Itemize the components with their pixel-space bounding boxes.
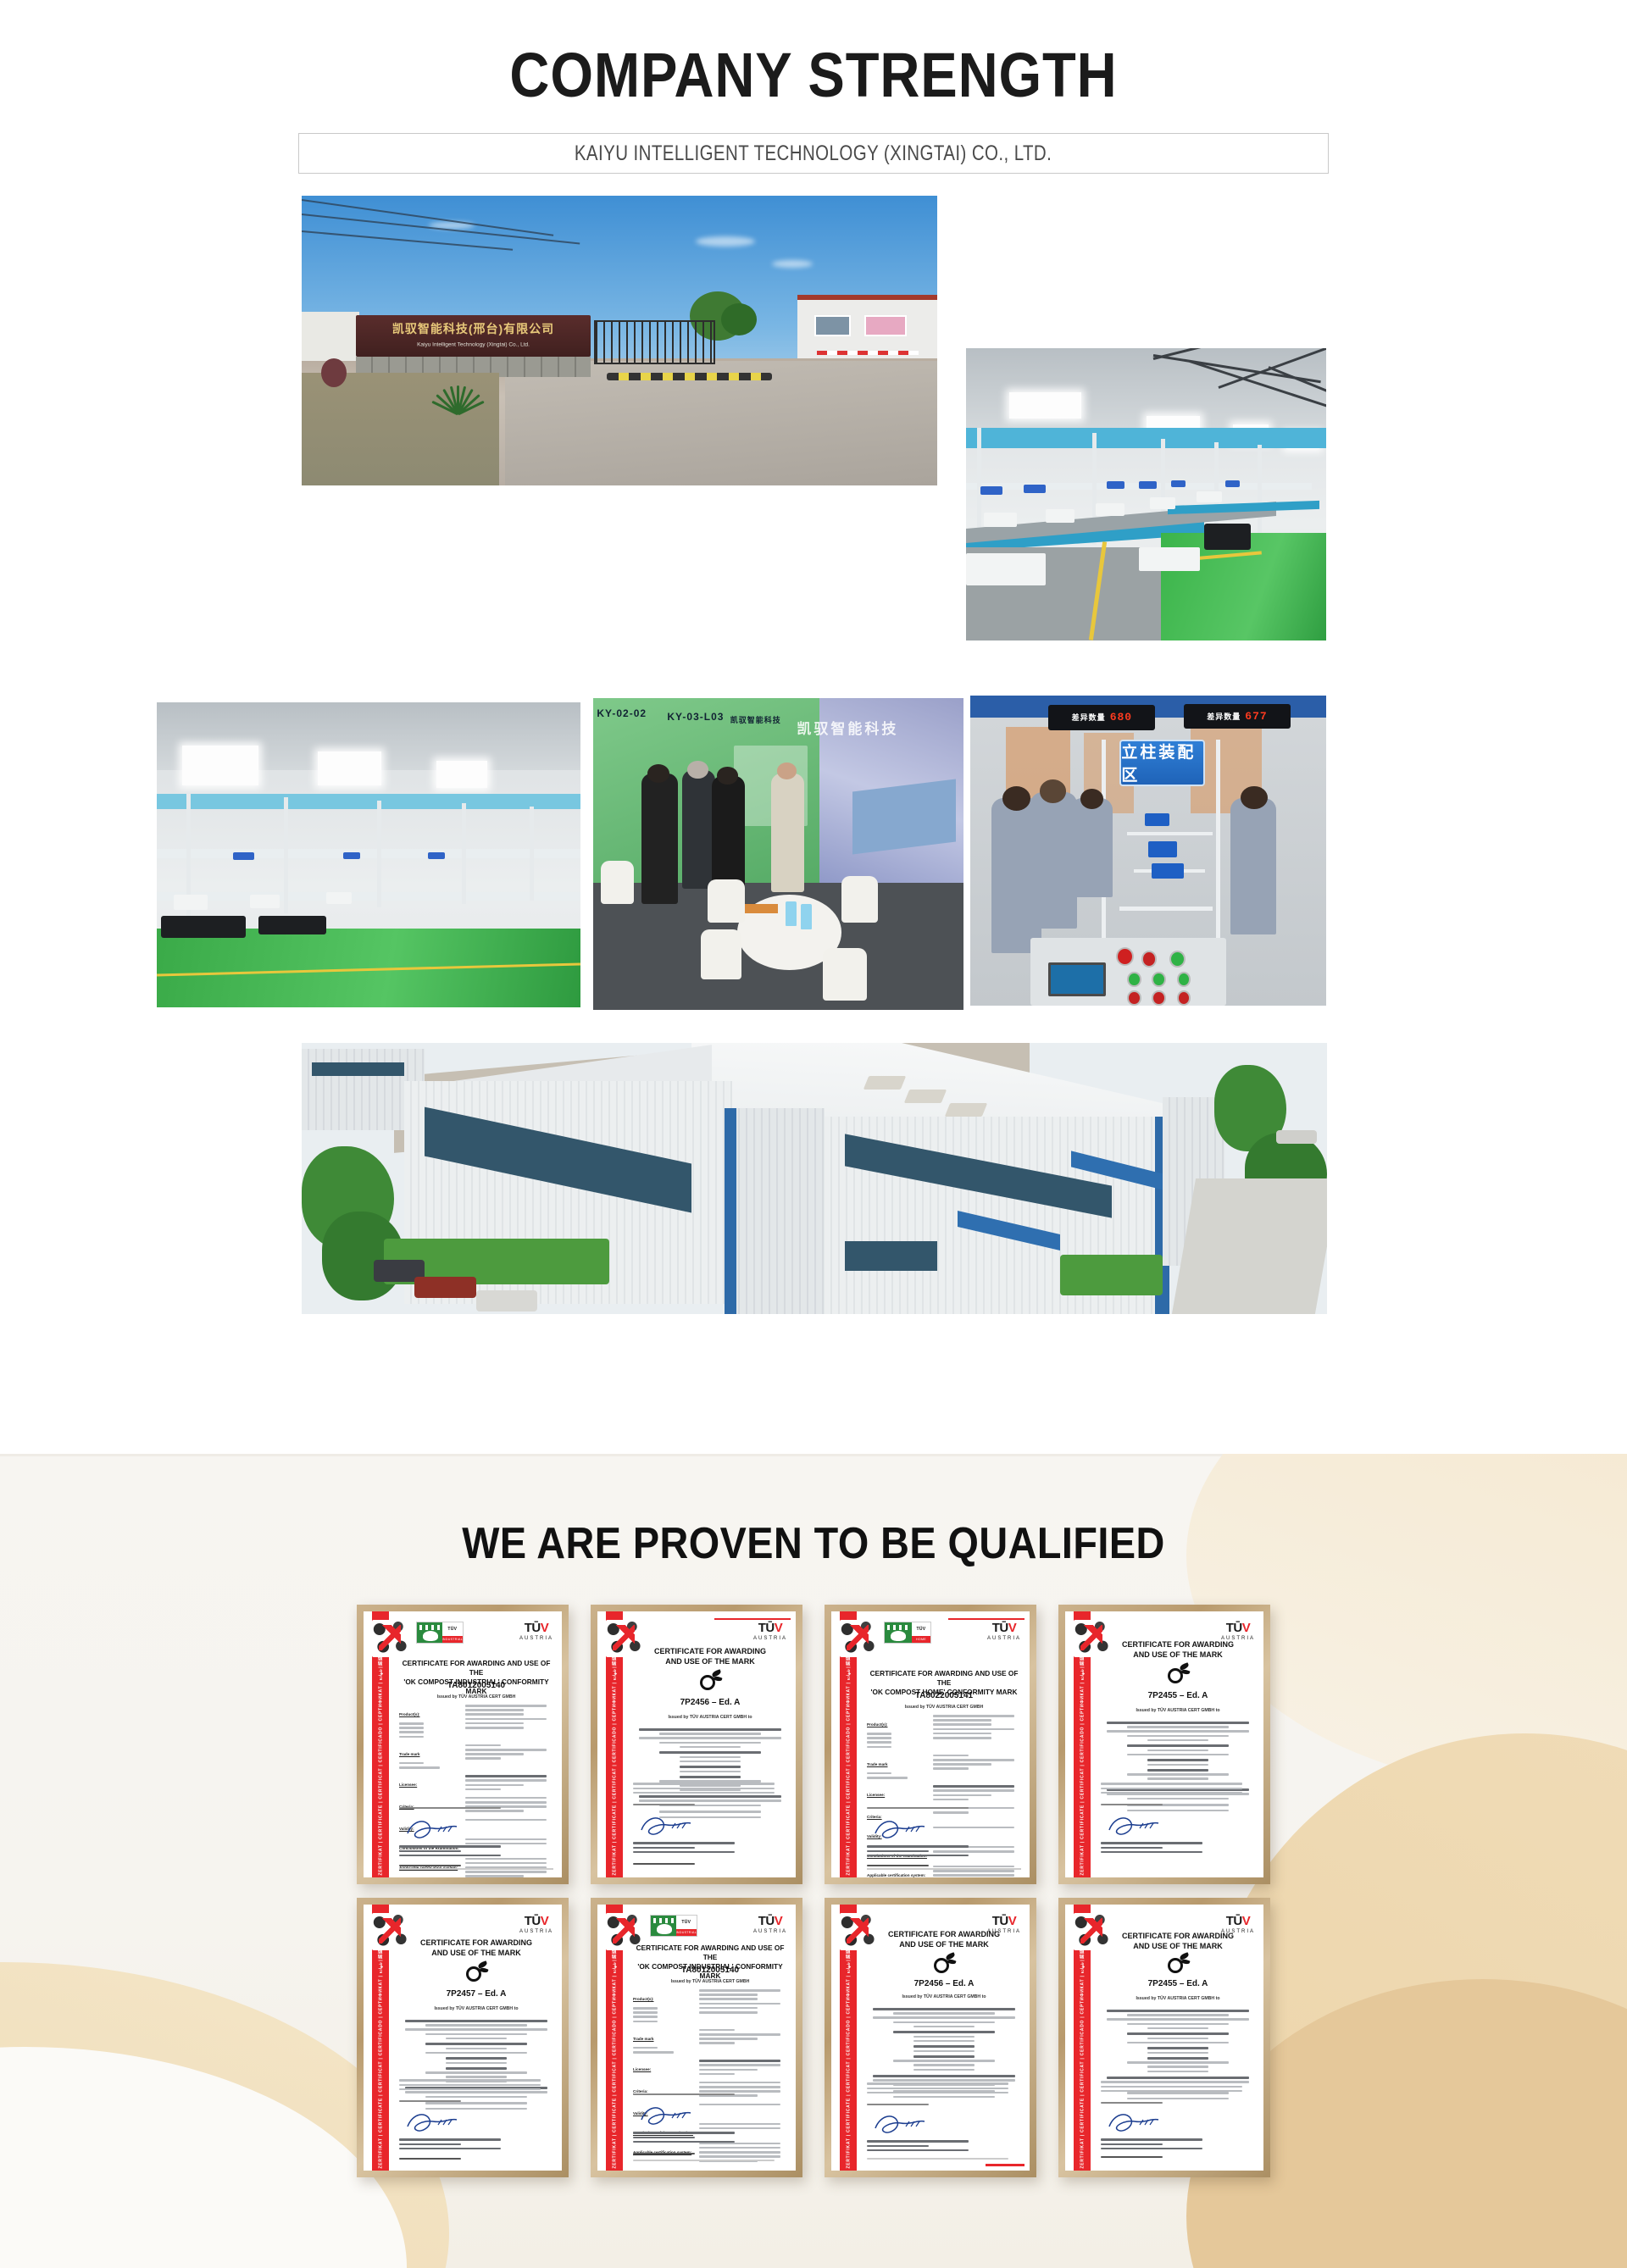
ok-compost-seedling-icon xyxy=(695,1669,724,1691)
certificate-heading: CERTIFICATE FOR AWARDING AND USE OF THE … xyxy=(633,1647,787,1667)
assembly-area-sign-text: 立柱装配区 xyxy=(1121,740,1203,785)
ok-compost-seedling-icon xyxy=(1163,1952,1191,1974)
ok-compost-seedling-icon xyxy=(461,1960,490,1982)
signature xyxy=(872,1815,935,1844)
ok-compost-seedling-icon xyxy=(1163,1662,1191,1684)
photo-factory-gate[interactable]: 凯驭智能科技(邢台)有限公司 Kaiyu Intelligent Technol… xyxy=(302,196,937,485)
booth-panel-label-1: KY-02-02 xyxy=(597,707,647,719)
signature xyxy=(638,2101,701,2130)
keurmerk-v-icon xyxy=(840,1620,877,1657)
certificate-issued-by: Issued by TÜV AUSTRIA CERT GMBH xyxy=(399,1694,553,1700)
certificate-issued-by: Issued by TÜV AUSTRIA CERT GMBH to xyxy=(867,1994,1021,1999)
booth-panel-label-3: 凯驭智能科技 xyxy=(730,714,781,725)
led-display-2: 差异数量 677 xyxy=(1184,704,1291,729)
certificate-languages: ZERTIFIKAT | CERTIFICATE | CERTIFICAT | … xyxy=(1080,1933,1086,2168)
photo-factory-building[interactable] xyxy=(302,1043,1327,1314)
certificate-number: 7P2457 – Ed. A xyxy=(399,1989,553,1999)
certificate-number: 7P2455 – Ed. A xyxy=(1101,1691,1255,1700)
red-button-2[interactable] xyxy=(1127,990,1141,1006)
certificate-card[interactable]: ZERTIFIKAT | CERTIFICATE | CERTIFICAT | … xyxy=(591,1898,802,2177)
gate-sign-english: Kaiyu Intelligent Technology (Xingtai) C… xyxy=(417,342,530,348)
ok-compost-home-badge: TÜVHOME xyxy=(884,1622,931,1644)
photo-workshop-left[interactable] xyxy=(157,702,580,1007)
photo-gallery: 凯驭智能科技(邢台)有限公司 Kaiyu Intelligent Technol… xyxy=(0,196,1627,1314)
certificate-heading: CERTIFICATE FOR AWARDING AND USE OF THE … xyxy=(1101,1640,1255,1661)
certificate-languages: ZERTIFIKAT | CERTIFICATE | CERTIFICAT | … xyxy=(612,1640,618,1875)
certificate-issued-by: Issued by TÜV AUSTRIA CERT GMBH to xyxy=(633,1715,787,1720)
company-name: KAIYU INTELLIGENT TECHNOLOGY (XINGTAI) C… xyxy=(575,141,1052,166)
led-display-1: 差异数量 680 xyxy=(1048,705,1155,729)
certificate-card[interactable]: ZERTIFIKAT | CERTIFICATE | CERTIFICAT | … xyxy=(825,1605,1036,1884)
certificate-languages: ZERTIFIKAT | CERTIFICATE | CERTIFICAT | … xyxy=(1080,1640,1086,1875)
tuv-austria-logo: TŪV AUSTRIA xyxy=(987,1622,1021,1641)
red-button[interactable] xyxy=(1141,951,1158,968)
booth-panel-label-2: KY-03-L03 xyxy=(667,711,724,723)
green-button-2[interactable] xyxy=(1127,972,1141,987)
certificate-number: 7P2456 – Ed. A xyxy=(633,1698,787,1707)
certificate-heading: CERTIFICATE FOR AWARDING AND USE OF THE … xyxy=(399,1938,553,1959)
booth-panel-label-4: 凯驭智能科技 xyxy=(797,717,898,738)
ok-compost-seedling-icon xyxy=(929,1952,958,1974)
certificate-languages: ZERTIFIKAT | CERTIFICATE | CERTIFICAT | … xyxy=(846,1933,852,2168)
tuv-austria-logo: TŪV AUSTRIA xyxy=(753,1915,787,1934)
ok-compost-industrial-badge: TÜVINDUSTRIAL xyxy=(416,1622,464,1644)
gate-sign-chinese: 凯驭智能科技(邢台)有限公司 xyxy=(392,320,554,337)
signature xyxy=(872,2110,935,2138)
certificates-title: WE ARE PROVEN TO BE QUALIFIED xyxy=(81,1454,1546,1569)
certificate-number: 7P2455 – Ed. A xyxy=(1101,1979,1255,1988)
tuv-austria-logo: TŪV AUSTRIA xyxy=(1221,1622,1255,1641)
signature xyxy=(1106,2108,1169,2137)
certificate-heading: CERTIFICATE FOR AWARDING AND USE OF THE … xyxy=(1101,1932,1255,1952)
certificate-card[interactable]: ZERTIFIKAT | CERTIFICATE | CERTIFICAT | … xyxy=(357,1898,569,2177)
tuv-austria-logo: TŪV AUSTRIA xyxy=(519,1915,553,1934)
led-1-label: 差异数量 xyxy=(1072,712,1106,723)
certificate-card[interactable]: ZERTIFIKAT | CERTIFICATE | CERTIFICAT | … xyxy=(825,1898,1036,2177)
certificate-languages: ZERTIFIKAT | CERTIFICATE | CERTIFICAT | … xyxy=(846,1640,852,1875)
certificate-card[interactable]: ZERTIFIKAT | CERTIFICATE | CERTIFICAT | … xyxy=(357,1605,569,1884)
certificate-issued-by: Issued by TÜV AUSTRIA CERT GMBH to xyxy=(399,2006,553,2011)
company-name-box: KAIYU INTELLIGENT TECHNOLOGY (XINGTAI) C… xyxy=(298,133,1329,174)
certificate-heading: CERTIFICATE FOR AWARDING AND USE OF THE … xyxy=(399,1659,553,1696)
signature xyxy=(404,1815,467,1844)
page-title: COMPANY STRENGTH xyxy=(97,41,1530,109)
certificate-card[interactable]: ZERTIFIKAT | CERTIFICATE | CERTIFICAT | … xyxy=(1058,1898,1270,2177)
ok-compost-industrial-badge: TÜVINDUSTRIAL xyxy=(650,1915,697,1937)
certificates-section: WE ARE PROVEN TO BE QUALIFIED ZERTIFIKAT… xyxy=(0,1454,1627,2268)
certificate-number: TA8022005141 xyxy=(867,1691,1021,1700)
certificates-grid: ZERTIFIKAT | CERTIFICATE | CERTIFICAT | … xyxy=(335,1605,1292,2177)
led-2-label: 差异数量 xyxy=(1207,711,1241,722)
signature xyxy=(1106,1811,1169,1840)
tuv-austria-logo: TŪV AUSTRIA xyxy=(753,1622,787,1641)
led-2-value: 677 xyxy=(1245,710,1267,723)
keurmerk-v-icon xyxy=(372,1620,409,1657)
certificate-heading: CERTIFICATE FOR AWARDING AND USE OF THE … xyxy=(867,1930,1021,1950)
led-1-value: 680 xyxy=(1110,711,1132,724)
certificate-number: TA8012005140 xyxy=(633,1966,787,1975)
certificate-languages: ZERTIFIKAT | CERTIFICATE | CERTIFICAT | … xyxy=(612,1933,618,2168)
hmi-touchscreen[interactable] xyxy=(1048,962,1105,996)
emergency-stop-button[interactable] xyxy=(1116,947,1134,966)
photo-assembly-area[interactable]: 差异数量 680 差异数量 677 立柱装配区 xyxy=(970,696,1326,1006)
certificate-heading: CERTIFICATE FOR AWARDING AND USE OF THE … xyxy=(633,1944,787,1981)
certificate-issued-by: Issued by TÜV AUSTRIA CERT GMBH xyxy=(867,1705,1021,1710)
certificate-card[interactable]: ZERTIFIKAT | CERTIFICATE | CERTIFICAT | … xyxy=(591,1605,802,1884)
photo-trade-show-booth[interactable]: KY-02-02 KY-03-L03 凯驭智能科技 凯驭智能科技 xyxy=(593,698,963,1010)
photo-production-line[interactable] xyxy=(966,348,1326,640)
certificate-issued-by: Issued by TÜV AUSTRIA CERT GMBH to xyxy=(1101,1996,1255,2001)
assembly-area-sign: 立柱装配区 xyxy=(1119,740,1205,786)
green-button[interactable] xyxy=(1169,951,1186,968)
certificate-number: 7P2456 – Ed. A xyxy=(867,1979,1021,1988)
certificate-number: TA8012005140 xyxy=(399,1681,553,1690)
certificate-languages: ZERTIFIKAT | CERTIFICATE | CERTIFICAT | … xyxy=(378,1640,384,1875)
signature xyxy=(638,1811,701,1840)
certificate-languages: ZERTIFIKAT | CERTIFICATE | CERTIFICAT | … xyxy=(378,1933,384,2168)
tuv-austria-logo: TŪV AUSTRIA xyxy=(519,1622,553,1641)
certificate-issued-by: Issued by TÜV AUSTRIA CERT GMBH to xyxy=(1101,1708,1255,1713)
certificate-card[interactable]: ZERTIFIKAT | CERTIFICATE | CERTIFICAT | … xyxy=(1058,1605,1270,1884)
company-strength-section: COMPANY STRENGTH KAIYU INTELLIGENT TECHN… xyxy=(0,0,1627,1454)
signature xyxy=(404,2108,467,2137)
certificate-issued-by: Issued by TÜV AUSTRIA CERT GMBH xyxy=(633,1979,787,1984)
